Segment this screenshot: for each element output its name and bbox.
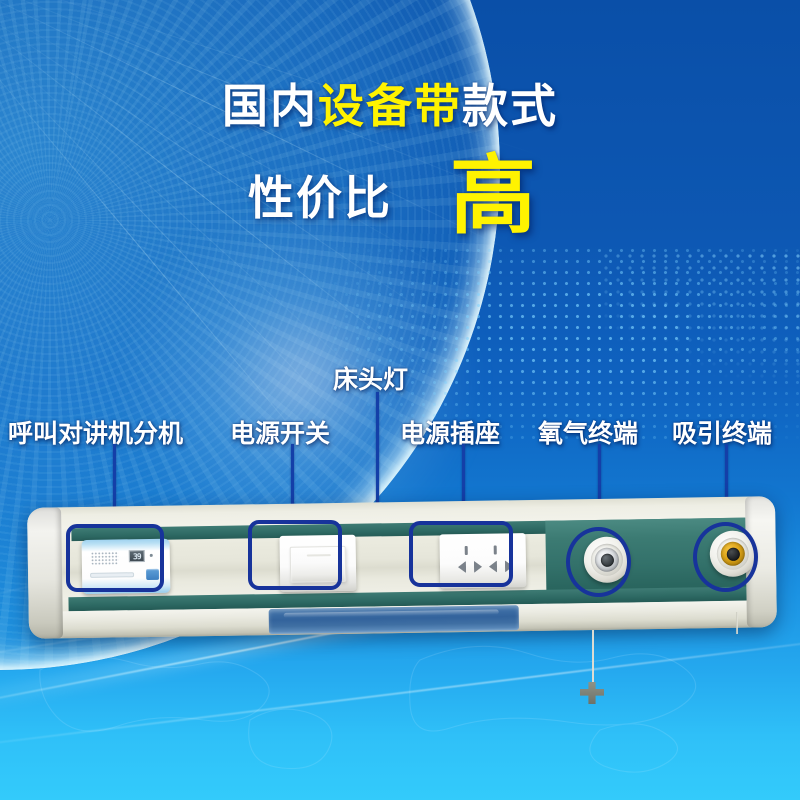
callout-label-suction-terminal: 吸引终端 [672, 414, 772, 450]
cross-shape-icon [580, 682, 604, 704]
light-streak [0, 624, 800, 758]
callout-label-nurse-call-intercom: 呼叫对讲机分机 [8, 414, 183, 450]
title-segment-3: 款式 [462, 80, 558, 132]
title-block: 国内设备带款式 性价比 高 [0, 82, 800, 130]
title-line-1: 国内设备带款式 [0, 82, 800, 130]
panel-end-cap-left [27, 507, 63, 639]
highlight-ring-oxygen-terminal [566, 527, 631, 597]
title-segment-1: 国内 [222, 80, 318, 132]
title-value-phrase: 性价比 [248, 162, 392, 228]
highlight-ring-suction-terminal [693, 522, 758, 592]
highlight-box-power-switch [248, 520, 342, 590]
bedside-lamp-light-strip[interactable] [269, 605, 519, 634]
callout-label-oxygen-terminal: 氧气终端 [538, 414, 638, 450]
highlight-box-nurse-call-intercom [66, 524, 164, 592]
title-line-2: 性价比 高 [0, 154, 800, 236]
callout-label-power-switch: 电源开关 [230, 414, 330, 450]
banner-stage: 国内设备带款式 性价比 高 呼叫对讲机分机电源开关床头灯电源插座氧气终端吸引终端… [0, 0, 800, 800]
halftone-dot-field-secondary [600, 250, 800, 380]
call-button-cord [592, 630, 594, 688]
title-emphasis-character: 高 [450, 156, 536, 238]
callout-label-power-socket: 电源插座 [400, 414, 500, 450]
title-segment-2: 设备带 [318, 80, 462, 132]
highlight-box-power-socket [409, 521, 513, 587]
call-button-pendant[interactable] [580, 682, 604, 704]
secondary-cord [736, 612, 738, 634]
callout-label-bedside-lamp: 床头灯 [333, 360, 408, 396]
